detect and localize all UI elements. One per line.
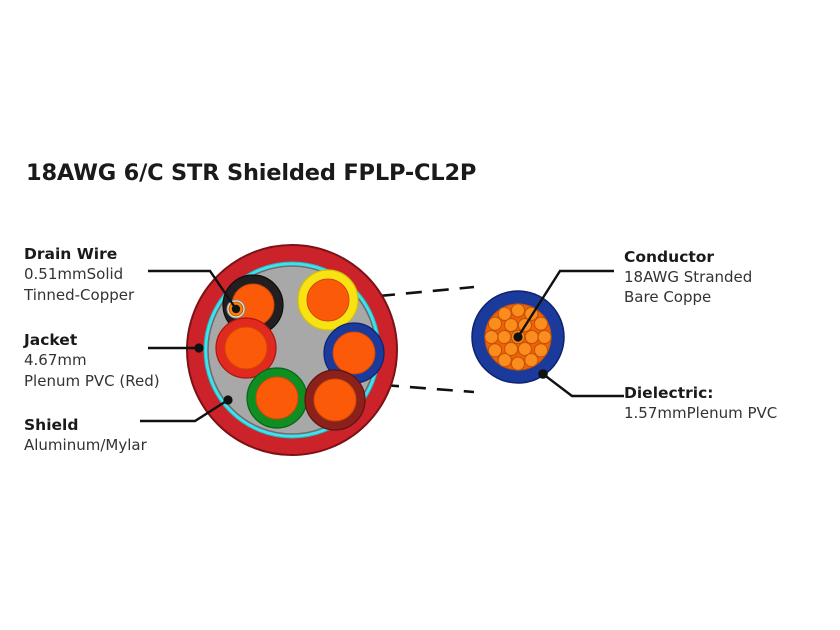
label-dielectric-line1: 1.57mmPlenum PVC <box>624 404 777 422</box>
diagram-page: 18AWG 6/C STR Shielded FPLP-CL2P <box>0 0 840 630</box>
leader-dot-conductor <box>513 332 522 341</box>
conductor-yellow-core <box>307 279 349 321</box>
label-jacket-head: Jacket <box>23 331 78 349</box>
zoom-line-top <box>379 287 474 296</box>
label-jacket-line2: Plenum PVC (Red) <box>24 372 160 390</box>
label-shield: Shield Aluminum/Mylar <box>24 416 148 454</box>
conductor-green-core <box>256 377 298 419</box>
label-conductor: Conductor 18AWG Stranded Bare Coppe <box>624 248 752 306</box>
label-jacket: Jacket 4.67mm Plenum PVC (Red) <box>23 331 160 390</box>
strand <box>525 330 538 343</box>
label-conductor-line1: 18AWG Stranded <box>624 268 752 286</box>
label-shield-head: Shield <box>24 416 78 434</box>
leader-dot-jacket <box>194 343 203 352</box>
strand <box>488 317 501 330</box>
label-drain-wire-line2: Tinned-Copper <box>23 286 135 304</box>
strand <box>485 330 498 343</box>
strand <box>498 307 511 320</box>
strand <box>488 344 501 357</box>
conductor-yellow <box>298 270 358 330</box>
strand <box>534 317 547 330</box>
conductor-red-core <box>225 327 267 369</box>
label-dielectric: Dielectric: 1.57mmPlenum PVC <box>624 384 777 422</box>
zoom-line-bottom <box>383 385 474 392</box>
leader-dielectric <box>538 369 624 396</box>
strand <box>511 304 524 317</box>
strand <box>511 357 524 370</box>
conductor-red <box>216 318 276 378</box>
strand <box>534 344 547 357</box>
label-drain-wire: Drain Wire 0.51mmSolid Tinned-Copper <box>23 245 135 304</box>
label-dielectric-head: Dielectric: <box>624 384 713 402</box>
label-conductor-line2: Bare Coppe <box>624 288 711 306</box>
strand <box>525 354 538 367</box>
conductor-green <box>247 368 307 428</box>
label-drain-wire-head: Drain Wire <box>24 245 117 263</box>
conductor-blue-core <box>333 332 375 374</box>
cable-cross-section-diagram: 18AWG 6/C STR Shielded FPLP-CL2P <box>0 0 840 630</box>
page-title: 18AWG 6/C STR Shielded FPLP-CL2P <box>26 160 476 186</box>
strand <box>538 330 551 343</box>
cable-cross-section <box>187 245 397 455</box>
leader-dot-shield <box>223 395 232 404</box>
strand <box>498 330 511 343</box>
conductor-brown-core <box>314 379 356 421</box>
leader-dot-drain-wire <box>232 305 240 313</box>
strand <box>498 354 511 367</box>
conductor-brown <box>305 370 365 430</box>
leader-dot-dielectric <box>538 369 548 379</box>
label-jacket-line1: 4.67mm <box>24 351 87 369</box>
label-drain-wire-line1: 0.51mmSolid <box>24 265 123 283</box>
label-shield-line1: Aluminum/Mylar <box>24 436 148 454</box>
label-conductor-head: Conductor <box>624 248 714 266</box>
